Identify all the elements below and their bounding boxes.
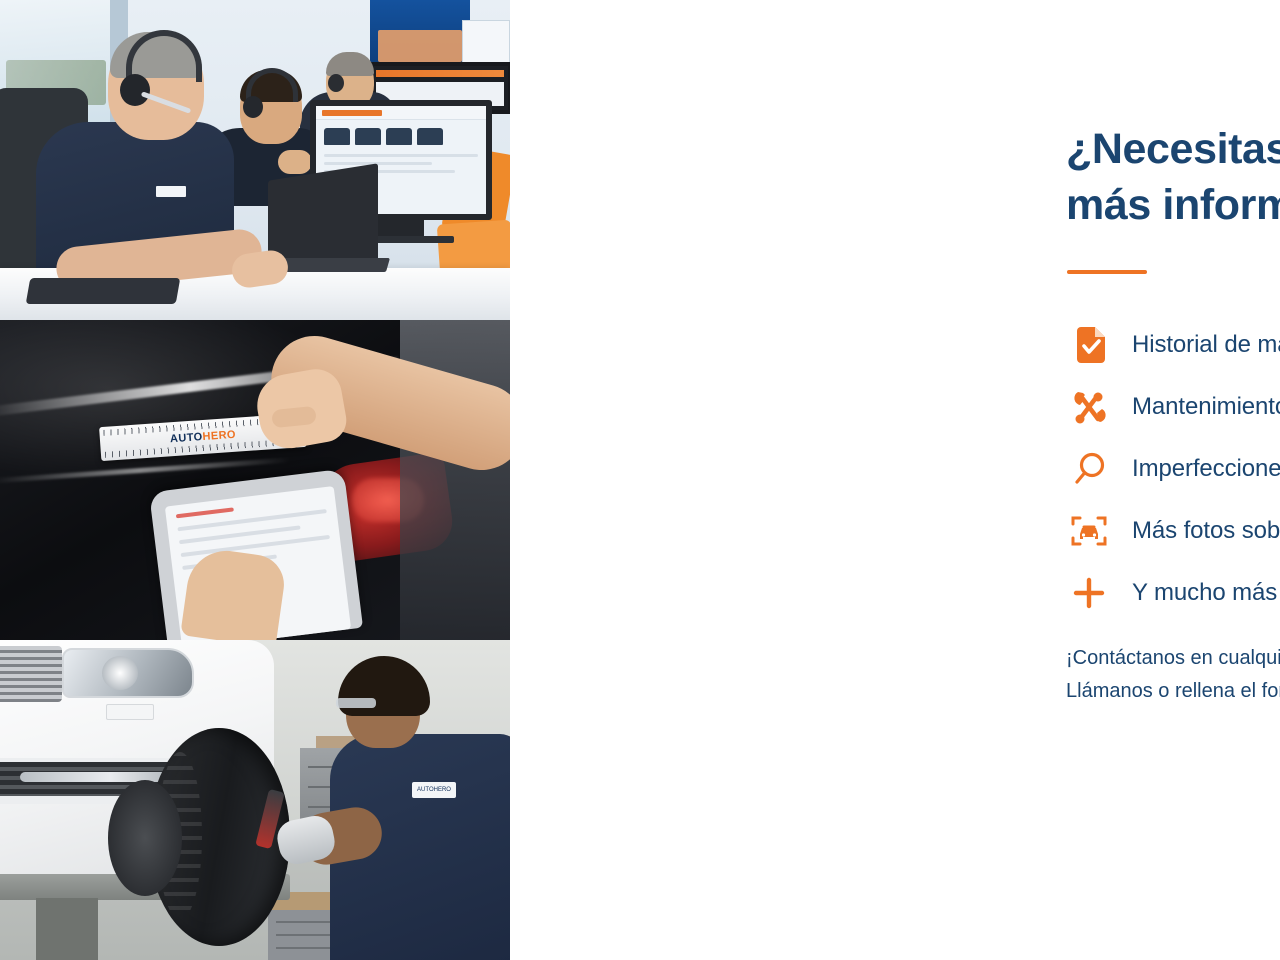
agent-three-headphone bbox=[328, 74, 344, 92]
car-headlight bbox=[62, 648, 194, 698]
car-grille bbox=[0, 646, 62, 702]
monitor-browser-bar bbox=[316, 106, 486, 120]
technician-logo-badge: AUTOHERO bbox=[412, 782, 456, 798]
title-divider bbox=[1067, 270, 1147, 274]
feature-label: Imperfecciones bbox=[1132, 455, 1280, 483]
monitor-stand bbox=[378, 220, 424, 236]
call-center-agents-photo bbox=[0, 0, 510, 320]
feature-item-historial: Historial de mantenimientos bbox=[1066, 314, 1280, 376]
desk-tablet bbox=[26, 278, 181, 304]
feature-label: Mantenimiento realizado bbox=[1132, 393, 1280, 421]
title-line-1: ¿Necesitas bbox=[1066, 122, 1280, 178]
car-scan-icon bbox=[1066, 514, 1112, 548]
feature-list: Historial de mantenimientos M bbox=[1066, 314, 1280, 624]
agent-one-logo-badge bbox=[156, 186, 186, 197]
agent-two-headphone bbox=[243, 96, 263, 118]
monitor-car-thumbnails bbox=[324, 128, 443, 145]
contact-paragraph: ¡Contáctanos en cualquier momento para m… bbox=[1066, 642, 1280, 708]
workshop-wheel-technician-photo: AUTOHERO bbox=[0, 640, 510, 960]
title-line-2: más información? bbox=[1066, 178, 1280, 234]
plus-icon bbox=[1066, 576, 1112, 610]
tools-icon bbox=[1066, 389, 1112, 425]
wall-poster-image bbox=[378, 30, 462, 62]
page-title: ¿Necesitas más información? bbox=[1066, 122, 1280, 234]
car-inspection-ruler-photo: AUTOHERO bbox=[0, 320, 510, 640]
document-check-icon bbox=[1066, 327, 1112, 363]
feature-item-imperfecciones: Imperfecciones bbox=[1066, 438, 1280, 500]
brand-secondary: HERO bbox=[202, 429, 236, 443]
feature-label: Y mucho más bbox=[1132, 579, 1277, 607]
technician-glasses bbox=[336, 698, 376, 708]
content-area: ¿Necesitas más información? Estamos enca… bbox=[510, 0, 1280, 960]
feature-label: Historial de mantenimientos bbox=[1132, 331, 1280, 359]
feature-item-mas: Y mucho más bbox=[1066, 562, 1280, 624]
license-plate-area bbox=[106, 704, 154, 720]
magnifier-icon bbox=[1066, 452, 1112, 486]
photo-column: AUTOHERO bbox=[0, 0, 510, 960]
information-panel: AUTOHERO bbox=[0, 0, 1280, 960]
brake-hub bbox=[108, 780, 182, 896]
agent-one-headphone bbox=[120, 74, 150, 106]
agent-two-hand bbox=[278, 150, 312, 174]
feature-label: Más fotos sobre el coche bbox=[1132, 517, 1280, 545]
feature-item-mantenimiento: Mantenimiento realizado bbox=[1066, 376, 1280, 438]
car-lift-post bbox=[36, 898, 98, 960]
feature-item-fotos: Más fotos sobre el coche bbox=[1066, 500, 1280, 562]
contact-line-1: ¡Contáctanos en cualquier momento para m… bbox=[1066, 642, 1280, 675]
contact-line-2: Llámanos o rellena el formulario de cont… bbox=[1066, 675, 1280, 708]
brand-primary: AUTO bbox=[170, 431, 203, 445]
